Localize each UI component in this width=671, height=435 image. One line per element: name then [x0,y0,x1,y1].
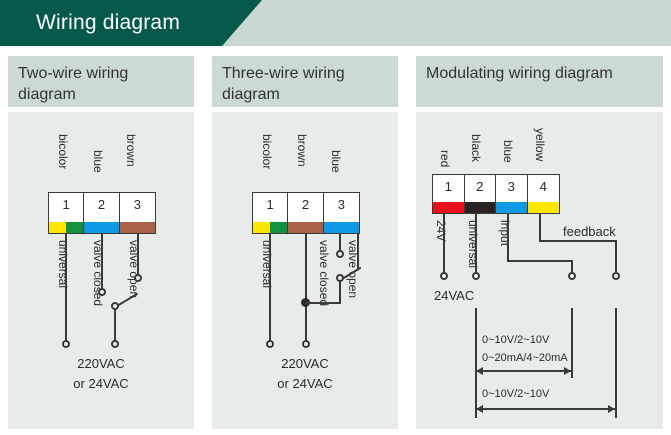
terminal-1: 1 [49,193,84,233]
dimension-input [476,370,571,372]
wiring-diagram-page: Wiring diagram Two-wire wiring diagram b… [0,0,671,435]
page-banner: Wiring diagram [0,0,671,46]
wire-valve-closed [101,234,103,292]
wire-label-blue: blue [91,150,105,173]
terminal-color-strip [84,222,118,233]
terminal-1: 1 [433,175,465,213]
terminal-color-strip [433,202,464,213]
terminal-point-universal [472,272,480,280]
wire-label-yellow: yellow [533,128,547,161]
wire-label-bicolor: bicolor [56,134,70,169]
wire-switch-common [114,310,116,344]
terminal-number: 1 [63,197,70,212]
terminal-3: 3 [324,193,359,233]
terminal-3: 3 [120,193,155,233]
wire-universal [475,214,477,276]
card-title-three-wire: Three-wire wiring diagram [212,56,398,107]
terminal-block: 1 2 3 [432,174,560,214]
range-feedback-voltage: 0~10V/2~10V [482,388,549,400]
card-modulating: Modulating wiring diagram red black blue… [416,56,663,429]
card-title-two-wire: Two-wire wiring diagram [8,56,194,107]
function-label-input: input [498,220,512,246]
terminal-3: 3 [496,175,528,213]
strip-red [433,202,464,213]
diagram-modulating: red black blue yellow 1 2 [416,112,663,429]
terminal-number: 3 [508,179,515,194]
terminal-color-strip [253,222,287,233]
terminal-color-strip [288,222,322,233]
wire-label-black: black [469,134,483,162]
terminal-point-supply [302,340,310,348]
supply-label-line1: 220VAC [8,356,194,371]
wire-input-horizontal [507,260,573,262]
supply-label-line2: or 24VAC [8,376,194,391]
diagram-three-wire: bicolor brown blue 1 2 [212,112,398,429]
terminal-2: 2 [288,193,323,233]
wire-label-bicolor: bicolor [260,134,274,169]
terminal-point-universal [266,340,274,348]
terminal-number: 2 [302,197,309,212]
terminal-point-feedback [612,272,620,280]
wire-valve-open [137,234,139,278]
strip-yellow [49,222,66,233]
terminal-point-valve-open [134,274,142,282]
supply-label-line1: 220VAC [212,356,398,371]
dimension-ext-right [615,308,617,418]
terminal-point-supply [111,340,119,348]
terminal-color-strip [465,202,496,213]
terminal-color-strip [496,202,527,213]
range-input-voltage: 0~10V/2~10V [482,334,549,346]
function-label-24v: 24V [434,220,448,241]
terminal-number: 2 [98,197,105,212]
wire-input-vertical [507,214,509,262]
terminal-point-valve-closed [336,250,344,258]
card-three-wire: Three-wire wiring diagram bicolor brown … [212,56,398,429]
card-title-modulating: Modulating wiring diagram [416,56,663,107]
supply-label-line2: or 24VAC [212,376,398,391]
dimension-ext-mid [571,308,573,378]
wire-universal [269,234,271,344]
terminal-number: 4 [540,179,547,194]
strip-brown [120,222,155,233]
strip-green [270,222,287,233]
terminal-number: 3 [134,197,141,212]
strip-yellow [528,202,559,213]
dimension-feedback [476,408,615,410]
page-title: Wiring diagram [36,0,180,46]
wire-common-brown [305,234,307,344]
wire-label-red: red [438,150,452,167]
wire-feedback-drop [615,240,617,274]
wire-label-brown: brown [124,134,138,167]
terminal-color-strip [528,202,559,213]
terminal-color-strip [120,222,155,233]
function-label-universal: universal [56,240,70,288]
terminal-number: 3 [338,197,345,212]
strip-green [66,222,83,233]
terminal-point-24v [440,272,448,280]
terminal-number: 1 [445,179,452,194]
card-two-wire: Two-wire wiring diagram bicolor blue bro… [8,56,194,429]
supply-label: 24VAC [434,288,474,303]
strip-blue [496,202,527,213]
terminal-point-universal [62,340,70,348]
wire-24v [443,214,445,276]
wire-label-brown: brown [295,134,309,167]
terminal-number: 1 [267,197,274,212]
dimension-ext-left [475,308,477,418]
wire-label-blue: blue [329,150,343,173]
function-label-valve-closed: valve closed [317,240,331,306]
wire-feedback-vertical [539,214,541,242]
terminal-color-strip [324,222,359,233]
terminal-2: 2 [465,175,497,213]
function-label-universal: universal [466,220,480,268]
switch-common-point [111,302,119,310]
wire-feedback-horizontal [539,240,617,242]
terminal-2: 2 [84,193,119,233]
terminal-color-strip [49,222,83,233]
wire-label-blue: blue [501,140,515,163]
terminal-4: 4 [528,175,559,213]
terminal-number: 2 [476,179,483,194]
strip-blue [324,222,359,233]
terminal-block: 1 2 3 [48,192,156,234]
wire-valve-open [357,234,359,270]
strip-blue [84,222,118,233]
function-label-universal: universal [260,240,274,288]
terminal-1: 1 [253,193,288,233]
function-label-feedback: feedback [563,224,616,239]
strip-brown [288,222,322,233]
strip-black [465,202,496,213]
strip-yellow [253,222,270,233]
diagram-two-wire: bicolor blue brown 1 2 [8,112,194,429]
wire-junction-branch [305,302,341,304]
terminal-point-valve-closed [98,288,106,296]
wire-universal [65,234,67,344]
terminal-block: 1 2 3 [252,192,360,234]
range-input-current: 0~20mA/4~20mA [482,352,568,364]
wire-switch-common [339,280,341,304]
terminal-point-input [568,272,576,280]
